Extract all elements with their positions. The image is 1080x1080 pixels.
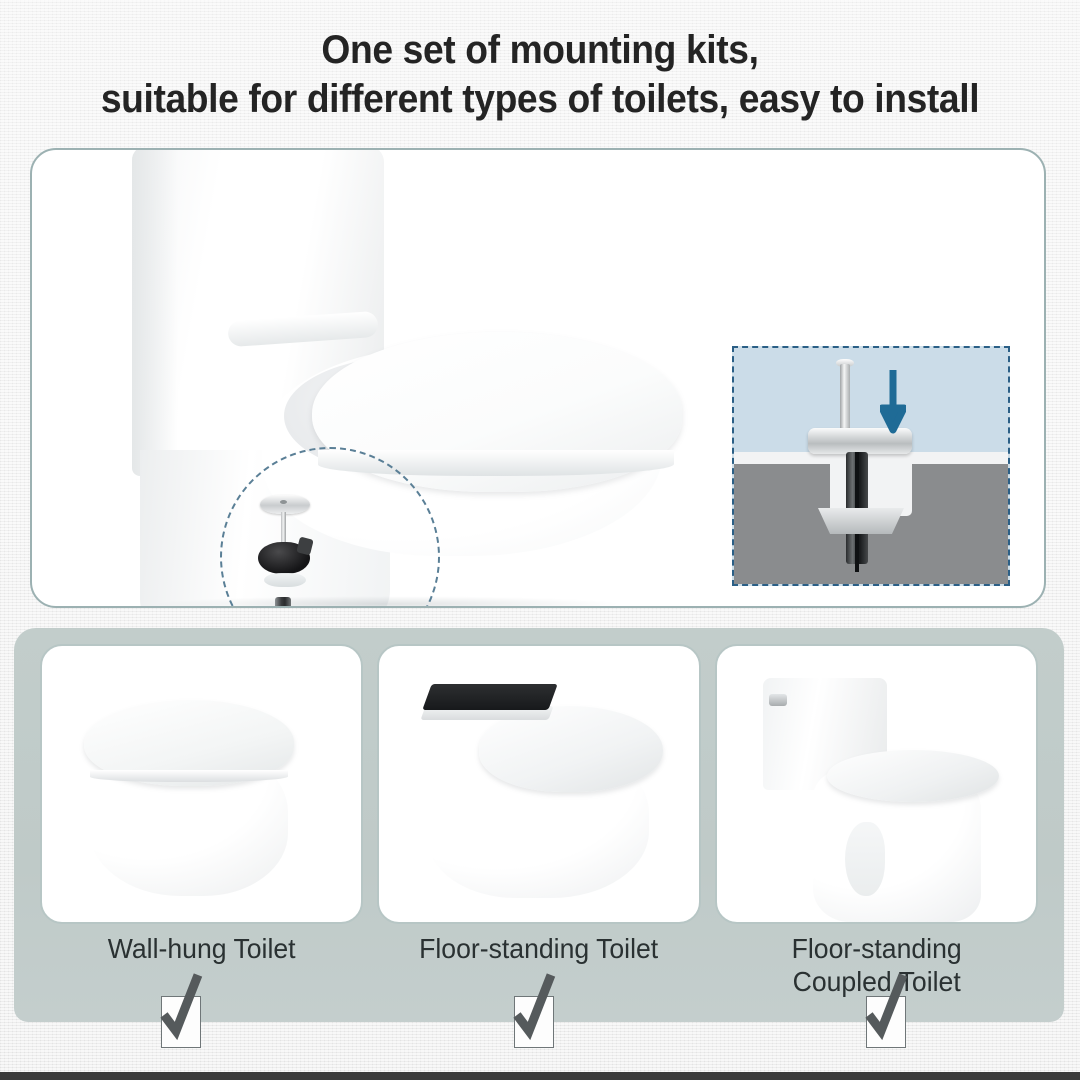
coupled-trapway-shape — [845, 822, 885, 896]
checkbox-floor-standing-toilet[interactable] — [514, 996, 554, 1048]
down-arrow-icon — [880, 370, 906, 434]
card-floor-standing-toilet — [377, 644, 700, 924]
headline-line-2: suitable for different types of toilets,… — [38, 75, 1042, 124]
cutaway-recess — [830, 464, 912, 516]
checkbox-wall-hung-toilet[interactable] — [161, 996, 201, 1048]
check-mark-icon — [511, 973, 557, 1047]
card-wall-hung-toilet — [40, 644, 363, 924]
floor-standing-black-panel-shape — [423, 684, 558, 710]
mounting-cutaway-diagram — [732, 346, 1010, 586]
hero-panel — [30, 148, 1046, 608]
headline-line-1: One set of mounting kits, — [321, 28, 758, 72]
check-mark-icon — [863, 973, 909, 1047]
cutaway-clamp-icon — [818, 508, 904, 534]
toilet-card-list — [40, 644, 1038, 924]
page-title: One set of mounting kits, suitable for d… — [38, 26, 1042, 124]
cutaway-bolt-icon — [840, 364, 850, 432]
toilet-types-panel: Wall-hung Toilet Floor-standing Toilet F… — [14, 628, 1064, 1022]
wall-hung-seam-shape — [90, 770, 288, 782]
checkbox-floor-standing-coupled-toilet[interactable] — [866, 996, 906, 1048]
check-mark-icon — [158, 973, 204, 1047]
coupled-flush-lever-icon — [769, 694, 787, 706]
card-floor-standing-coupled-toilet — [715, 644, 1038, 924]
coupled-label-line-1: Floor-standing — [791, 933, 961, 964]
clear-spacer-icon — [264, 573, 306, 587]
coupled-seat-shape — [827, 750, 999, 802]
expansion-anchor-icon — [275, 597, 291, 608]
mounting-cap-hole-icon — [280, 500, 287, 504]
bottom-edge-bar — [0, 1072, 1080, 1080]
